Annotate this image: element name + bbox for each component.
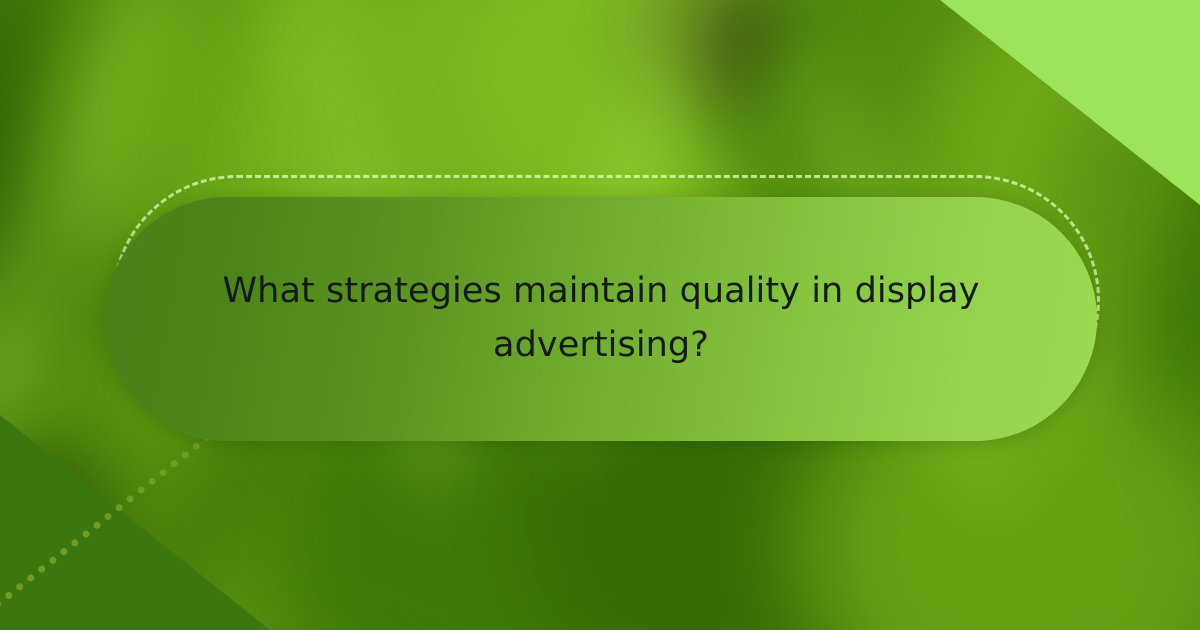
question-card: What strategies maintain quality in disp…	[105, 197, 1097, 441]
question-card-canvas: What strategies maintain quality in disp…	[0, 0, 1200, 630]
question-text: What strategies maintain quality in disp…	[221, 264, 981, 375]
